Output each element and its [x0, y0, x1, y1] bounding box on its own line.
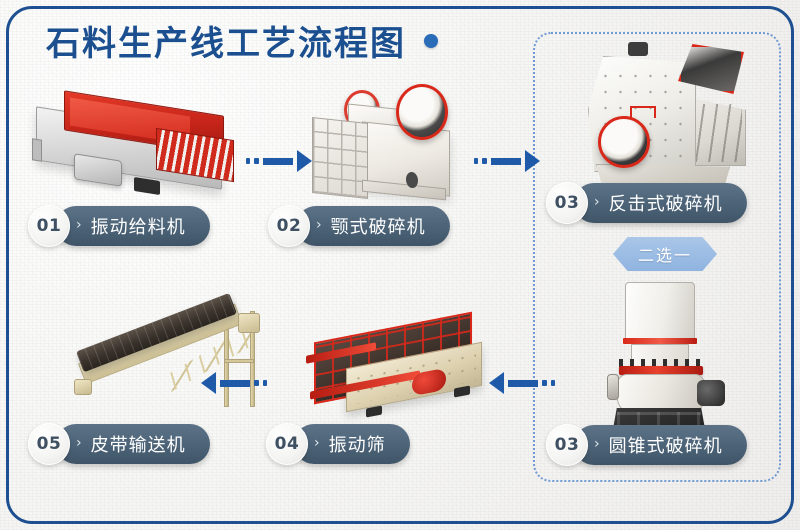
arrow-feeder-to-jaw: [246, 150, 312, 172]
step-pill[interactable]: › 圆锥式破碎机: [574, 425, 747, 465]
flowchart-canvas: 石料生产线工艺流程图 二选一: [0, 0, 800, 530]
step-label-text: 皮带输送机: [91, 431, 186, 457]
arrow-dot-icon: [254, 158, 259, 164]
step-number-badge: 01: [28, 205, 70, 247]
arrow-screen-to-belt: [201, 372, 267, 394]
step-label-text: 颚式破碎机: [331, 213, 426, 239]
step-label-03-cone[interactable]: 03 › 圆锥式破碎机: [546, 424, 747, 466]
chevron-right-icon: ›: [76, 436, 82, 450]
cone-crusher-icon: [585, 282, 745, 442]
arrow-head-icon: [297, 150, 312, 172]
belt-conveyor-icon: [74, 305, 264, 415]
arrow-jaw-to-crusher: [474, 150, 540, 172]
arrow-dot-icon: [551, 380, 555, 386]
arrow-dot-icon: [542, 380, 547, 386]
chevron-right-icon: ›: [76, 218, 82, 232]
step-label-02[interactable]: 02 › 颚式破碎机: [268, 205, 450, 247]
step-pill[interactable]: › 反击式破碎机: [574, 183, 747, 223]
chevron-right-icon: ›: [316, 218, 322, 232]
step-number-badge: 02: [268, 205, 310, 247]
step-label-01[interactable]: 01 › 振动给料机: [28, 205, 210, 247]
chevron-right-icon: ›: [314, 436, 320, 450]
arrow-dot-icon: [254, 380, 259, 386]
step-label-text: 振动给料机: [91, 213, 186, 239]
step-pill[interactable]: › 皮带输送机: [56, 424, 210, 464]
chevron-right-icon: ›: [594, 437, 600, 451]
step-number-badge: 03: [546, 182, 588, 224]
impact-crusher-icon: [572, 42, 754, 192]
step-label-04[interactable]: 04 › 振动筛: [266, 423, 410, 465]
arrow-head-icon: [489, 372, 504, 394]
title-text: 石料生产线工艺流程图: [46, 16, 406, 65]
arrow-head-icon: [525, 150, 540, 172]
arrow-head-icon: [201, 372, 216, 394]
arrow-dot-icon: [246, 158, 250, 164]
step-pill[interactable]: › 颚式破碎机: [296, 206, 450, 246]
vibrating-screen-icon: [296, 315, 486, 425]
step-pill[interactable]: › 振动给料机: [56, 206, 210, 246]
step-label-text: 反击式破碎机: [609, 190, 723, 216]
chevron-right-icon: ›: [594, 195, 600, 209]
step-pill[interactable]: › 振动筛: [294, 424, 410, 464]
step-label-05[interactable]: 05 › 皮带输送机: [28, 423, 210, 465]
arrow-shaft: [508, 380, 538, 387]
step-label-03-impact[interactable]: 03 › 反击式破碎机: [546, 182, 747, 224]
arrow-dot-icon: [263, 380, 267, 386]
blue-dot-icon: [424, 34, 438, 48]
step-number-badge: 05: [28, 423, 70, 465]
jaw-crusher-icon: [310, 72, 470, 207]
page-title: 石料生产线工艺流程图: [46, 16, 438, 65]
step-label-text: 圆锥式破碎机: [609, 432, 723, 458]
arrow-dot-icon: [474, 158, 478, 164]
choose-one-badge: 二选一: [613, 237, 717, 271]
arrow-dot-icon: [482, 158, 487, 164]
step-number-badge: 03: [546, 424, 588, 466]
arrow-shaft: [491, 158, 521, 165]
arrow-shaft: [263, 158, 293, 165]
arrow-crusher-to-screen: [489, 372, 555, 394]
step-label-text: 振动筛: [329, 431, 386, 457]
step-number-badge: 04: [266, 423, 308, 465]
vibrating-feeder-icon: [30, 95, 250, 200]
arrow-shaft: [220, 380, 250, 387]
